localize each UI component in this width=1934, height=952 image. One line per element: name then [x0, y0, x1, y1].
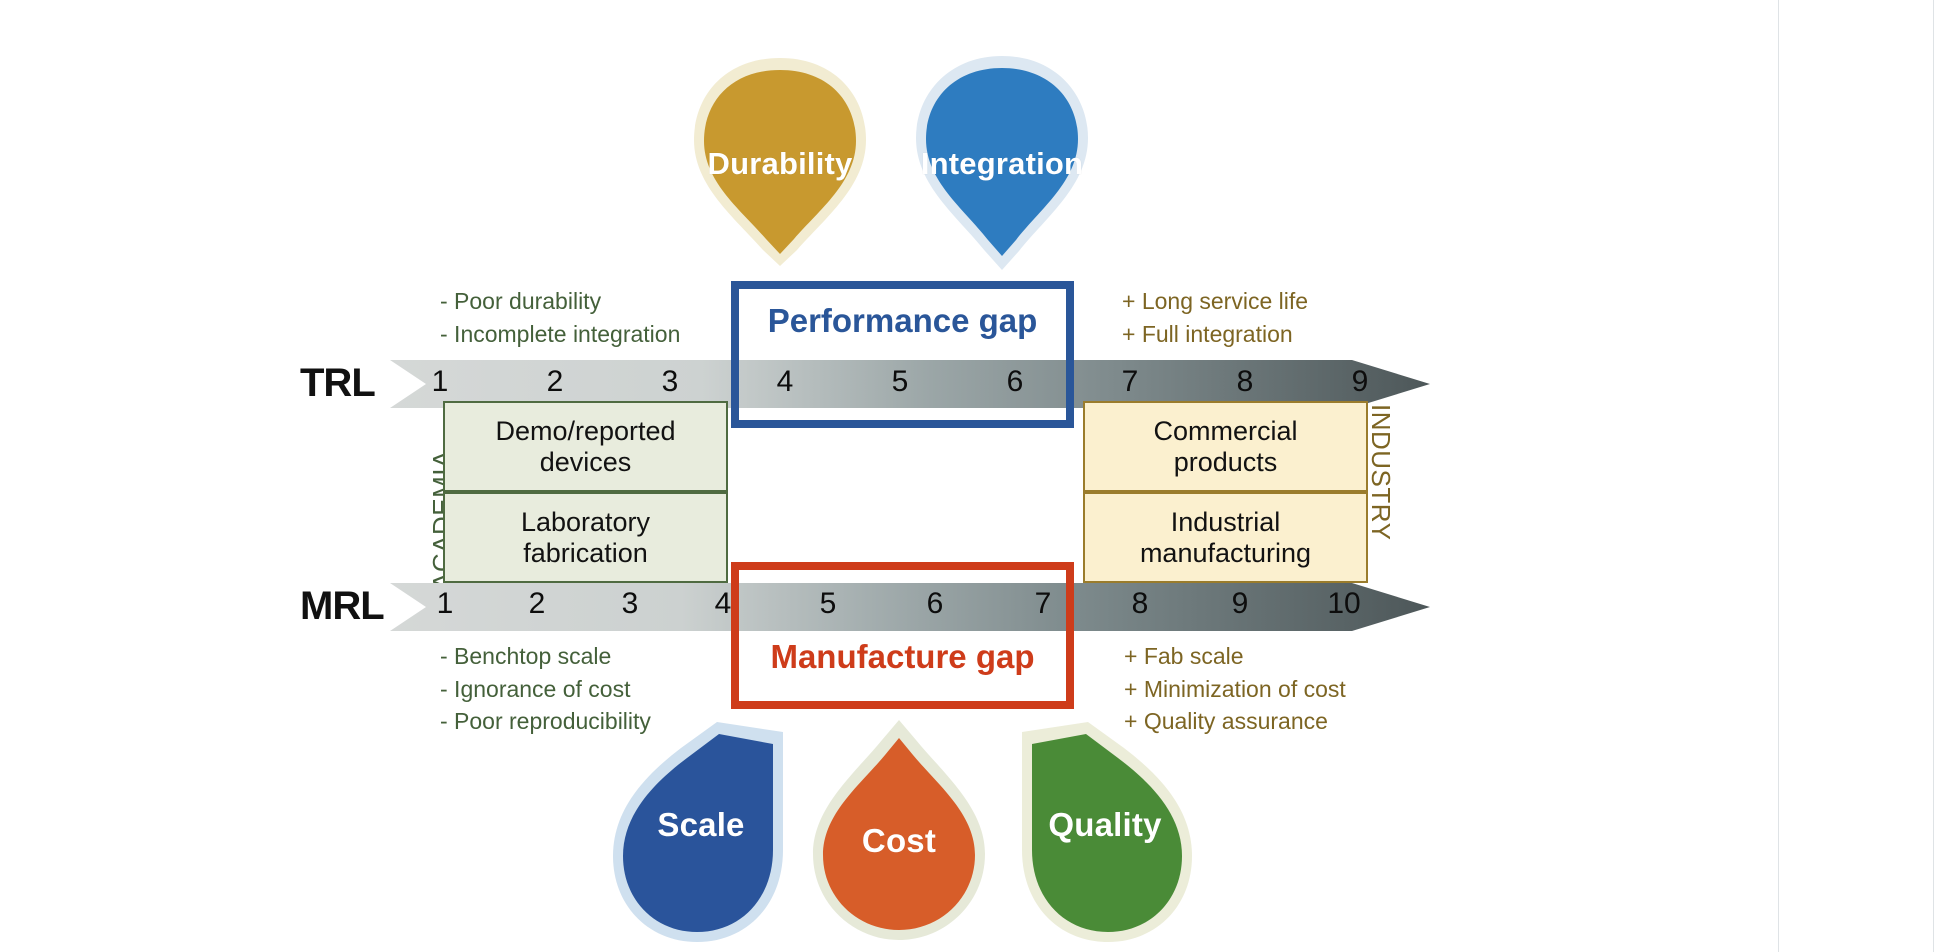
academia-box-group: Demo/reported devices Laboratory fabrica… — [443, 401, 728, 583]
academia-box-2-line1: Laboratory — [521, 507, 650, 537]
industry-box-group: Commercial products Industrial manufactu… — [1083, 401, 1368, 583]
pin-quality-label: Quality — [1008, 806, 1202, 844]
mrl-tick-8: 8 — [1115, 587, 1165, 621]
industry-box-1-line1: Commercial — [1153, 416, 1297, 446]
pin-scale: Scale — [605, 716, 797, 950]
manufacture-gap-box: Manufacture gap — [731, 562, 1074, 709]
mrl-right-note-2: + Minimization of cost — [1124, 673, 1346, 706]
mrl-left-note-2: - Ignorance of cost — [440, 673, 651, 706]
mrl-tick-9: 9 — [1215, 587, 1265, 621]
trl-right-note-2: + Full integration — [1122, 318, 1308, 351]
academia-box-2: Laboratory fabrication — [443, 492, 728, 583]
trl-tick-1: 1 — [415, 365, 465, 399]
trl-left-note-2: - Incomplete integration — [440, 318, 680, 351]
pin-integration: Integration — [908, 48, 1096, 278]
trl-tick-3: 3 — [645, 365, 695, 399]
trl-tick-2: 2 — [530, 365, 580, 399]
pin-integration-label: Integration — [908, 146, 1096, 182]
pin-cost: Cost — [805, 712, 993, 952]
mrl-tick-3: 3 — [605, 587, 655, 621]
academia-box-1-line2: devices — [540, 447, 632, 477]
pin-durability: Durability — [685, 48, 875, 273]
industry-box-2-line2: manufacturing — [1140, 538, 1311, 568]
manufacture-gap-label: Manufacture gap — [739, 638, 1066, 676]
industry-box-2-line1: Industrial — [1171, 507, 1281, 537]
trl-left-note-1: - Poor durability — [440, 285, 680, 318]
academia-box-1-line1: Demo/reported — [495, 416, 675, 446]
mrl-tick-1: 1 — [420, 587, 470, 621]
trl-tick-7: 7 — [1105, 365, 1155, 399]
industry-side-label: INDUSTRY — [1365, 404, 1396, 540]
performance-gap-box: Performance gap — [731, 281, 1074, 428]
diagram-canvas: Durability Integration - Poor durability… — [0, 0, 1934, 952]
trl-tick-9: 9 — [1335, 365, 1385, 399]
page-edge-line — [1778, 0, 1779, 952]
trl-left-notes: - Poor durability - Incomplete integrati… — [440, 285, 680, 350]
trl-right-notes: + Long service life + Full integration — [1122, 285, 1308, 350]
performance-gap-label: Performance gap — [739, 302, 1066, 340]
pin-durability-label: Durability — [685, 146, 875, 182]
mrl-tick-2: 2 — [512, 587, 562, 621]
industry-box-2: Industrial manufacturing — [1083, 492, 1368, 583]
pin-cost-label: Cost — [805, 822, 993, 860]
industry-box-1: Commercial products — [1083, 401, 1368, 492]
pin-quality: Quality — [1008, 716, 1202, 950]
mrl-right-note-1: + Fab scale — [1124, 640, 1346, 673]
academia-box-1: Demo/reported devices — [443, 401, 728, 492]
industry-box-1-line2: products — [1174, 447, 1278, 477]
mrl-label: MRL — [300, 584, 384, 629]
mrl-tick-10: 10 — [1313, 587, 1375, 621]
mrl-left-note-1: - Benchtop scale — [440, 640, 651, 673]
pin-scale-label: Scale — [605, 806, 797, 844]
trl-right-note-1: + Long service life — [1122, 285, 1308, 318]
academia-box-2-line2: fabrication — [523, 538, 648, 568]
trl-tick-8: 8 — [1220, 365, 1270, 399]
trl-label: TRL — [300, 361, 375, 406]
